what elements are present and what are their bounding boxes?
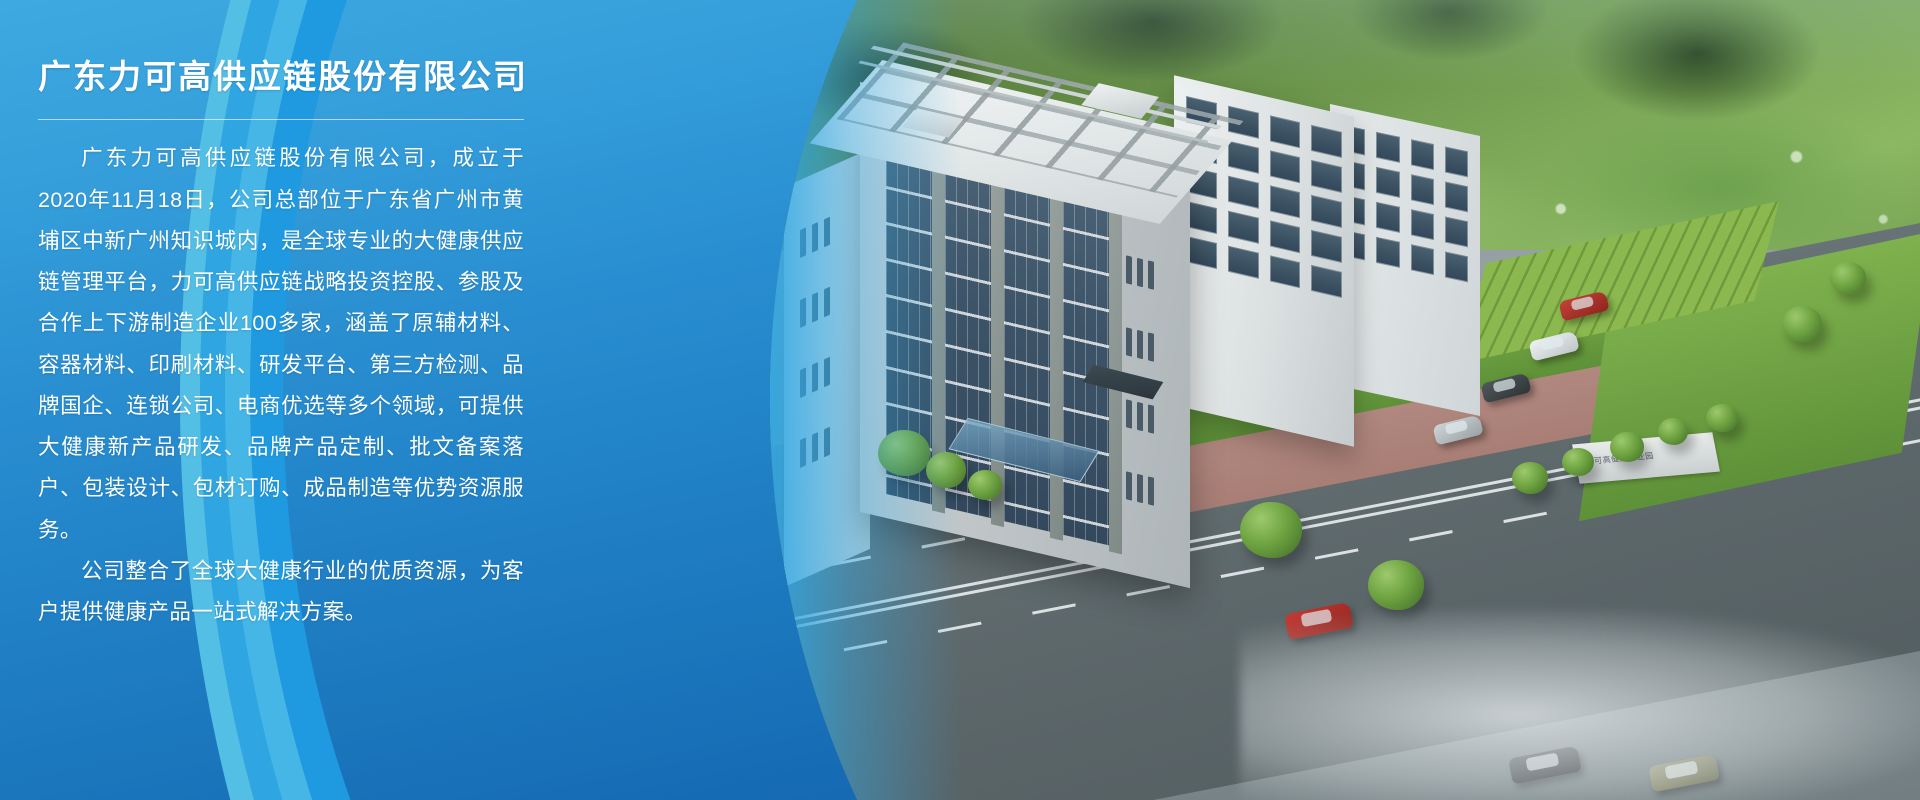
window — [1270, 185, 1301, 218]
tree — [1512, 462, 1548, 494]
window-slit — [1137, 474, 1143, 503]
window-slit — [1148, 476, 1154, 505]
tree — [1240, 502, 1302, 558]
atmospheric-haze — [1240, 610, 1920, 800]
window — [1376, 202, 1399, 233]
window — [1445, 181, 1468, 212]
window — [1411, 139, 1434, 170]
window-slit — [1148, 404, 1154, 433]
content-column: 广东力可高供应链股份有限公司 广东力可高供应链股份有限公司，成立于2020年11… — [0, 0, 560, 633]
photo-left-fade — [770, 0, 960, 800]
window-slit — [1148, 260, 1154, 289]
window — [1311, 195, 1342, 228]
window — [1228, 246, 1259, 279]
window-slit — [1148, 332, 1154, 361]
banner-stage: 力可高健康产业园 — [0, 0, 1920, 800]
window — [1411, 244, 1434, 275]
car-cabin — [1444, 420, 1468, 435]
window — [1376, 237, 1399, 268]
window-grid — [1342, 125, 1468, 392]
window — [1270, 220, 1301, 253]
window-slit-group — [1126, 183, 1164, 542]
tree — [1610, 432, 1644, 462]
facility-photo: 力可高健康产业园 — [770, 0, 1920, 800]
window-slit — [1126, 399, 1132, 428]
window — [1445, 146, 1468, 177]
tree — [1706, 404, 1738, 432]
window — [1228, 176, 1259, 209]
car-cabin — [1570, 296, 1594, 311]
window — [1411, 174, 1434, 205]
window-slit — [1126, 255, 1132, 284]
window — [1376, 167, 1399, 198]
tree — [1658, 418, 1688, 445]
facade-mullion — [991, 132, 1004, 527]
company-description: 广东力可高供应链股份有限公司，成立于2020年11月18日，公司总部位于广东省广… — [38, 120, 524, 633]
curtain-wall-glass — [1004, 141, 1050, 532]
tree — [1782, 306, 1822, 342]
tree — [1368, 560, 1424, 610]
window — [1376, 132, 1399, 163]
window-slit — [1126, 327, 1132, 356]
window — [1311, 125, 1342, 158]
tree — [968, 470, 1002, 500]
window-slit — [1126, 471, 1132, 500]
window — [1445, 216, 1468, 247]
window — [1445, 251, 1468, 282]
curtain-wall-glass — [1063, 155, 1109, 546]
tree — [1830, 262, 1866, 294]
window-slit — [1137, 402, 1143, 431]
paragraph-2: 公司整合了全球大健康行业的优质资源，为客户提供健康产品一站式解决方案。 — [38, 551, 524, 634]
window — [1228, 141, 1259, 174]
window — [1311, 160, 1342, 193]
window — [1270, 255, 1301, 288]
window — [1186, 201, 1217, 234]
window — [1228, 211, 1259, 244]
car-cabin — [1492, 378, 1516, 393]
window — [1270, 150, 1301, 183]
paragraph-1: 广东力可高供应链股份有限公司，成立于2020年11月18日，公司总部位于广东省广… — [38, 138, 524, 551]
window-slit — [1137, 258, 1143, 287]
car-cabin — [1540, 336, 1564, 351]
window — [1311, 230, 1342, 263]
window-slit — [1137, 330, 1143, 359]
window — [1270, 115, 1301, 148]
facade-mullion — [1050, 146, 1063, 541]
tree — [1562, 448, 1594, 476]
page-title: 广东力可高供应链股份有限公司 — [38, 0, 524, 97]
photo-clip-circle: 力可高健康产业园 — [770, 0, 1920, 800]
facade-mullion — [1109, 159, 1122, 554]
window — [1186, 236, 1217, 269]
window — [1411, 209, 1434, 240]
window — [1311, 265, 1342, 298]
